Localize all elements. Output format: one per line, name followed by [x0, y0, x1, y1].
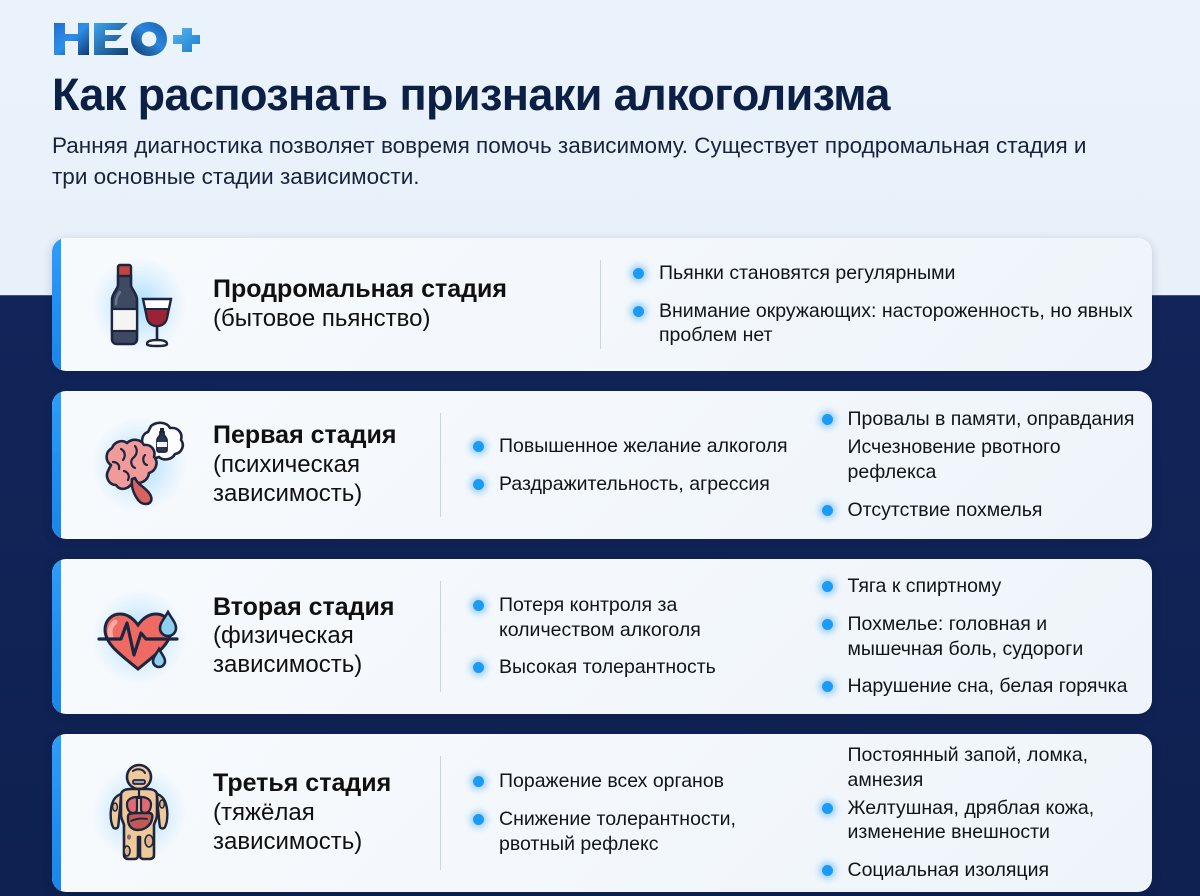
brand-logo[interactable]	[52, 16, 1148, 62]
list-item: Внимание окружающих: настороженность, но…	[633, 299, 1146, 349]
list-item-text: Поражение всех органов	[499, 770, 724, 792]
bullet-dot-icon	[473, 814, 484, 825]
bullet-column: Повышенное желание алкоголя Раздражитель…	[441, 434, 790, 497]
heart-pulse-sweat-icon	[85, 583, 193, 691]
neo-plus-logo-icon	[52, 19, 202, 59]
stage-header: Продромальная стадия (бытовое пьянство)	[52, 238, 600, 371]
bullet-dot-icon	[822, 414, 833, 425]
bullet-dot-icon	[473, 441, 484, 452]
stage-card-third[interactable]: Третья стадия (тяжёлая зависимость) Пора…	[52, 734, 1152, 892]
bullet-columns: Поражение всех органов Снижение толерант…	[441, 734, 1152, 892]
list-item: Тяга к спиртному	[822, 574, 1139, 599]
brain-craving-icon	[85, 411, 193, 519]
bullet-dot-icon	[822, 865, 833, 876]
list-item: Раздражительность, агрессия	[473, 472, 790, 497]
stage-subtitle: (физическая зависимость)	[213, 622, 440, 680]
bullet-dot-icon	[822, 581, 833, 592]
list-item: Провалы в памяти, оправдания	[822, 407, 1139, 432]
stage-subtitle: (бытовое пьянство)	[213, 305, 507, 334]
stage-header: Первая стадия (психическая зависимость)	[52, 391, 440, 539]
bullet-dot-icon	[822, 803, 833, 814]
list-item-text: Снижение толерантности, рвотный рефлекс	[499, 808, 736, 855]
stage-card-list: Продромальная стадия (бытовое пьянство) …	[52, 238, 1152, 892]
list-item-text: Потеря контроля за количеством алкоголя	[499, 594, 701, 641]
bullet-dot-icon	[473, 600, 484, 611]
stage-header: Вторая стадия (физическая зависимость)	[52, 559, 440, 714]
list-item-text: Отсутствие похмелья	[848, 499, 1043, 521]
stage-header: Третья стадия (тяжёлая зависимость)	[52, 734, 440, 892]
list-item: Нарушение сна, белая горячка	[822, 674, 1139, 699]
stage-title: Вторая стадия	[213, 593, 440, 623]
list-item-text: Социальная изоляция	[848, 859, 1050, 881]
stage-label-block: Первая стадия (психическая зависимость)	[193, 421, 440, 508]
list-item: Высокая толерантность	[473, 655, 790, 680]
list-item-text: Провалы в памяти, оправдания	[848, 408, 1135, 430]
stage-label-block: Вторая стадия (физическая зависимость)	[193, 593, 440, 680]
list-item-text: Постоянный запой, ломка, амнезия	[848, 744, 1089, 791]
list-item-text: Исчезновение рвотного рефлекса	[848, 436, 1061, 483]
stage-card-first[interactable]: Первая стадия (психическая зависимость) …	[52, 391, 1152, 539]
bullet-columns: Потеря контроля за количеством алкоголя …	[441, 559, 1152, 714]
infographic-page: Как распознать признаки алкоголизма Ранн…	[0, 0, 1200, 896]
bullet-dot-icon	[473, 662, 484, 673]
stage-subtitle: (психическая зависимость)	[213, 451, 440, 509]
stage-label-block: Продромальная стадия (бытовое пьянство)	[193, 275, 507, 333]
bullet-columns: Пьянки становятся регулярными Внимание о…	[601, 238, 1152, 371]
bullet-dot-icon	[473, 776, 484, 787]
stage-card-second[interactable]: Вторая стадия (физическая зависимость) П…	[52, 559, 1152, 714]
list-item: Повышенное желание алкоголя	[473, 434, 790, 459]
list-item: Потеря контроля за количеством алкоголя	[473, 593, 790, 643]
stage-title: Первая стадия	[213, 421, 440, 451]
list-item: Исчезновение рвотного рефлекса	[822, 435, 1139, 485]
list-item-text: Повышенное желание алкоголя	[499, 435, 788, 457]
list-item-text: Нарушение сна, белая горячка	[848, 675, 1128, 697]
bullet-column: Пьянки становятся регулярными Внимание о…	[601, 261, 1146, 349]
bullet-dot-icon	[633, 306, 644, 317]
bullet-columns: Повышенное желание алкоголя Раздражитель…	[441, 391, 1152, 539]
bullet-dot-icon	[473, 479, 484, 490]
list-item: Отсутствие похмелья	[822, 498, 1139, 523]
stage-subtitle: (тяжёлая зависимость)	[213, 799, 440, 857]
list-item: Социальная изоляция	[822, 858, 1139, 883]
wine-bottle-and-glass-icon	[85, 251, 193, 359]
list-item: Желтушная, дряблая кожа, изменение внешн…	[822, 796, 1139, 846]
list-item-text: Похмелье: головная и мышечная боль, судо…	[848, 613, 1084, 660]
stage-title: Третья стадия	[213, 769, 440, 799]
bullet-dot-icon	[822, 619, 833, 630]
page-header: Как распознать признаки алкоголизма Ранн…	[0, 0, 1200, 192]
list-item: Постоянный запой, ломка, амнезия	[822, 743, 1139, 793]
bullet-dot-icon	[633, 268, 644, 279]
bullet-dot-icon	[822, 681, 833, 692]
page-title: Как распознать признаки алкоголизма	[52, 70, 1148, 120]
bullet-column: Поражение всех органов Снижение толерант…	[441, 769, 790, 857]
list-item: Похмелье: головная и мышечная боль, судо…	[822, 612, 1139, 662]
list-item-text: Пьянки становятся регулярными	[659, 262, 955, 284]
bullet-column: Постоянный запой, ломка, амнезия Желтушн…	[790, 743, 1139, 884]
bullet-dot-icon	[822, 505, 833, 516]
list-item-text: Желтушная, дряблая кожа, изменение внешн…	[848, 797, 1095, 844]
list-item: Пьянки становятся регулярными	[633, 261, 1146, 286]
list-item-text: Высокая толерантность	[499, 656, 716, 678]
bullet-column: Тяга к спиртному Похмелье: головная и мы…	[790, 574, 1139, 700]
bullet-column: Потеря контроля за количеством алкоголя …	[441, 593, 790, 681]
stage-label-block: Третья стадия (тяжёлая зависимость)	[193, 769, 440, 856]
list-item: Снижение толерантности, рвотный рефлекс	[473, 807, 790, 857]
human-body-organs-icon	[85, 759, 193, 867]
stage-title: Продромальная стадия	[213, 275, 507, 305]
list-item-text: Тяга к спиртному	[848, 575, 1002, 597]
bullet-column: Провалы в памяти, оправдания Исчезновени…	[790, 407, 1139, 523]
list-item-text: Внимание окружающих: настороженность, но…	[659, 300, 1133, 347]
page-subtitle: Ранняя диагностика позволяет вовремя пом…	[52, 130, 1112, 192]
list-item-text: Раздражительность, агрессия	[499, 473, 770, 495]
list-item: Поражение всех органов	[473, 769, 790, 794]
stage-card-prodromal[interactable]: Продромальная стадия (бытовое пьянство) …	[52, 238, 1152, 371]
